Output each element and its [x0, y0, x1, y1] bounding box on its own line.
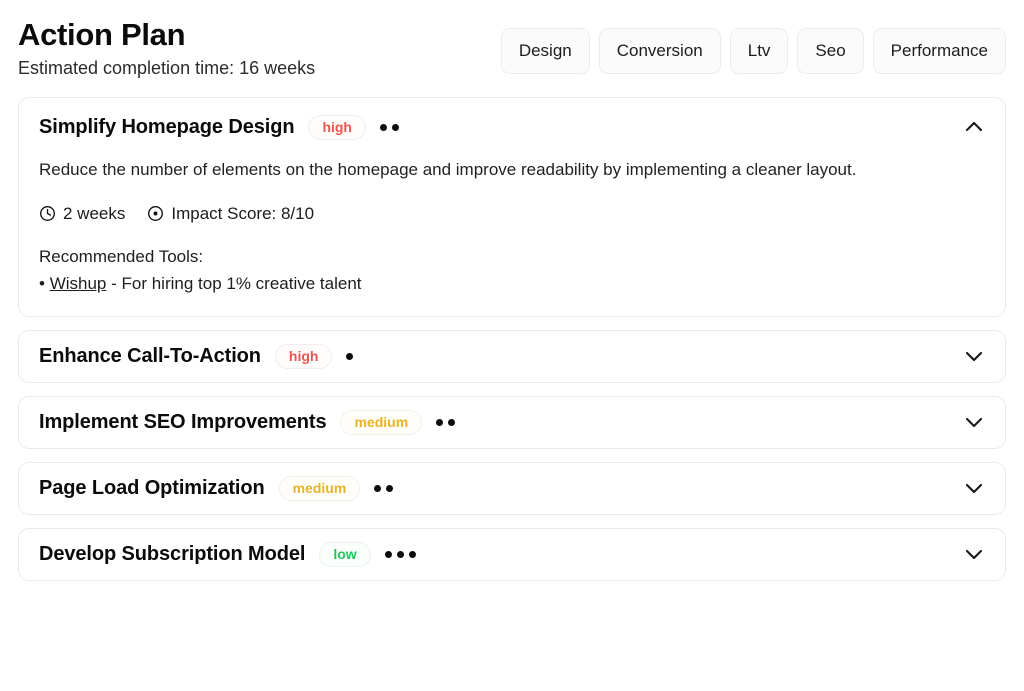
action-card[interactable]: Simplify Homepage DesignhighReduce the n… — [18, 97, 1006, 316]
impact-meta: Impact Score: 8/10 — [147, 204, 314, 224]
action-card[interactable]: Page Load Optimizationmedium — [18, 462, 1006, 515]
action-card[interactable]: Develop Subscription Modellow — [18, 528, 1006, 581]
card-header[interactable]: Simplify Homepage Designhigh — [39, 98, 985, 148]
effort-indicator — [346, 353, 353, 360]
tab-design[interactable]: Design — [501, 28, 590, 74]
card-header[interactable]: Develop Subscription Modellow — [39, 529, 985, 580]
priority-badge: medium — [340, 410, 422, 435]
category-tabs: DesignConversionLtvSeoPerformance — [501, 16, 1006, 74]
card-title: Enhance Call-To-Action — [39, 345, 261, 368]
priority-badge: low — [319, 542, 370, 567]
priority-badge: high — [308, 115, 366, 140]
effort-dot-icon — [448, 419, 455, 426]
effort-dot-icon — [346, 353, 353, 360]
duration-label: 2 weeks — [63, 204, 125, 224]
target-icon — [147, 205, 164, 222]
action-plan-page: Action Plan Estimated completion time: 1… — [0, 0, 1024, 691]
page-title: Action Plan — [18, 18, 315, 53]
effort-dot-icon — [386, 485, 393, 492]
effort-indicator — [374, 485, 393, 492]
chevron-down-icon[interactable] — [963, 477, 985, 499]
tab-seo[interactable]: Seo — [797, 28, 863, 74]
priority-badge: medium — [279, 476, 361, 501]
card-header[interactable]: Page Load Optimizationmedium — [39, 463, 985, 514]
action-card[interactable]: Implement SEO Improvementsmedium — [18, 396, 1006, 449]
tool-description: - For hiring top 1% creative talent — [111, 274, 361, 293]
page-subtitle: Estimated completion time: 16 weeks — [18, 58, 315, 80]
chevron-up-icon[interactable] — [963, 117, 985, 139]
chevron-down-icon[interactable] — [963, 345, 985, 367]
recommended-tools-label: Recommended Tools: — [39, 247, 985, 267]
tool-list-item: • Wishup - For hiring top 1% creative ta… — [39, 274, 985, 294]
tab-conversion[interactable]: Conversion — [599, 28, 721, 74]
effort-dot-icon — [409, 551, 416, 558]
effort-indicator — [385, 551, 416, 558]
card-title: Simplify Homepage Design — [39, 116, 294, 139]
card-title: Develop Subscription Model — [39, 543, 305, 566]
chevron-down-icon[interactable] — [963, 543, 985, 565]
effort-indicator — [436, 419, 455, 426]
duration-meta: 2 weeks — [39, 204, 125, 224]
effort-dot-icon — [380, 124, 387, 131]
card-title: Implement SEO Improvements — [39, 411, 326, 434]
card-header[interactable]: Implement SEO Improvementsmedium — [39, 397, 985, 448]
clock-icon — [39, 205, 56, 222]
tool-link[interactable]: Wishup — [50, 274, 107, 293]
card-meta-row: 2 weeksImpact Score: 8/10 — [39, 204, 985, 224]
effort-dot-icon — [436, 419, 443, 426]
priority-badge: high — [275, 344, 333, 369]
effort-dot-icon — [374, 485, 381, 492]
tab-performance[interactable]: Performance — [873, 28, 1006, 74]
action-cards-list: Simplify Homepage DesignhighReduce the n… — [18, 97, 1006, 580]
effort-dot-icon — [397, 551, 404, 558]
card-title: Page Load Optimization — [39, 477, 265, 500]
effort-dot-icon — [392, 124, 399, 131]
title-block: Action Plan Estimated completion time: 1… — [18, 16, 315, 79]
card-description: Reduce the number of elements on the hom… — [39, 157, 959, 183]
impact-score-label: Impact Score: 8/10 — [171, 204, 314, 224]
page-header: Action Plan Estimated completion time: 1… — [18, 16, 1006, 79]
action-card[interactable]: Enhance Call-To-Actionhigh — [18, 330, 1006, 383]
tab-ltv[interactable]: Ltv — [730, 28, 789, 74]
effort-dot-icon — [385, 551, 392, 558]
chevron-down-icon[interactable] — [963, 411, 985, 433]
effort-indicator — [380, 124, 399, 131]
card-header[interactable]: Enhance Call-To-Actionhigh — [39, 331, 985, 382]
bullet-icon: • — [39, 274, 45, 293]
